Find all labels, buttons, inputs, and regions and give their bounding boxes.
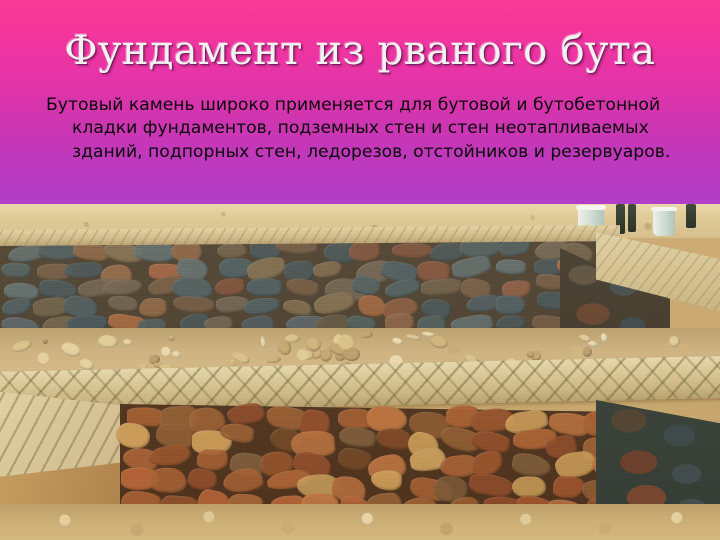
loose-rubble	[578, 333, 592, 343]
rubble-stone	[312, 259, 344, 280]
rubble-stone	[196, 449, 227, 471]
loose-rubble	[587, 340, 599, 348]
trench-floor-soil	[0, 504, 720, 540]
loose-rubble	[600, 332, 609, 343]
loose-rubble	[301, 349, 314, 362]
rubble-stone	[392, 243, 433, 258]
slide-title: Фундамент из рваного бута	[0, 28, 720, 74]
loose-rubble	[167, 335, 176, 343]
loose-rubble	[305, 337, 322, 352]
rubble-stone	[1, 296, 34, 318]
slide-body-text: Бутовый камень широко применяется для бу…	[46, 94, 708, 164]
rubble-stone	[63, 261, 104, 280]
rubble-stone	[149, 466, 187, 494]
rubble-stone	[214, 276, 246, 297]
rubble-stone	[338, 426, 376, 449]
rubble-stone	[371, 470, 403, 491]
rubble-stone	[0, 262, 31, 279]
foundation-photograph	[0, 204, 720, 540]
loose-rubble	[230, 350, 251, 365]
rubble-stone	[495, 259, 526, 276]
loose-rubble	[582, 347, 593, 359]
rubble-stone	[495, 295, 525, 315]
rubble-stone	[553, 475, 584, 498]
worker-figure	[686, 204, 696, 228]
loose-rubble	[59, 340, 82, 359]
rubble-stone	[247, 277, 283, 296]
loose-rubble	[526, 350, 535, 359]
rubble-stone	[217, 243, 248, 260]
rubble-stone	[313, 290, 357, 317]
rubble-stone	[172, 295, 215, 314]
loose-rubble	[267, 357, 282, 365]
bucket-rim-icon	[651, 207, 677, 211]
loose-rubble	[361, 331, 373, 339]
rubble-stone	[108, 295, 140, 312]
loose-rubble	[319, 348, 334, 364]
loose-rubble	[308, 340, 319, 352]
rubble-stone	[468, 471, 516, 499]
upper-rubble-wall	[0, 240, 600, 336]
rubble-stone	[186, 466, 219, 492]
loose-rubble	[42, 338, 49, 344]
loose-rubble	[335, 350, 347, 362]
loose-rubble	[260, 336, 267, 349]
rubble-stone	[221, 466, 265, 495]
bucket-rim-icon	[576, 205, 606, 210]
rubble-stone	[139, 297, 169, 318]
rubble-stone	[244, 296, 282, 316]
loose-rubble	[327, 341, 349, 358]
rubble-stone	[384, 277, 422, 300]
slide-text-panel: Фундамент из рваного бута Бутовый камень…	[0, 0, 720, 204]
bucket-icon	[653, 209, 675, 236]
loose-rubble	[332, 333, 345, 348]
loose-rubble	[307, 345, 324, 361]
loose-rubble	[98, 334, 119, 348]
presentation-slide: Фундамент из рваного бута Бутовый камень…	[0, 0, 720, 540]
loose-rubble	[149, 353, 162, 364]
loose-rubble	[280, 343, 292, 355]
loose-rubble	[405, 334, 422, 342]
rubble-stone	[420, 277, 462, 297]
loose-rubble	[669, 335, 681, 346]
loose-rubble	[285, 334, 300, 344]
loose-rubble	[11, 338, 33, 354]
loose-rubble	[342, 346, 360, 362]
loose-rubble	[391, 337, 403, 347]
loose-rubble	[122, 338, 133, 346]
loose-rubble	[172, 350, 182, 358]
worker-figure	[628, 204, 636, 232]
loose-rubble	[429, 333, 450, 350]
rubble-stone	[281, 297, 312, 318]
loose-rubble	[422, 331, 436, 338]
loose-rubble	[275, 339, 292, 354]
rubble-stone	[285, 276, 320, 298]
